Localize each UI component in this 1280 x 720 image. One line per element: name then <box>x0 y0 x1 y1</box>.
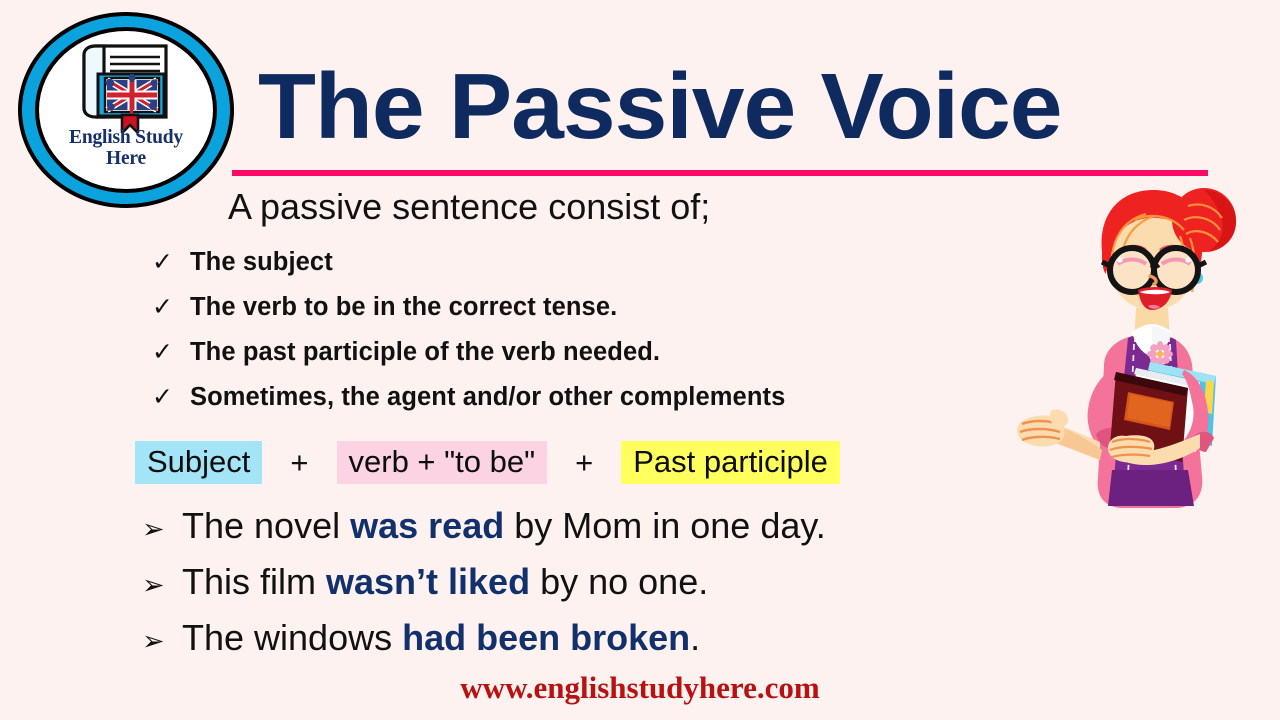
list-item: ➢ The novel was read by Mom in one day. <box>142 505 1102 561</box>
page-title: The Passive Voice <box>258 60 1061 153</box>
teacher-with-books-illustration <box>1008 176 1280 520</box>
formula-chip-subject: Subject <box>135 441 262 484</box>
example-passive-verb: had been broken <box>402 617 690 658</box>
checkmark-icon: ✓ <box>152 384 190 409</box>
passive-formula-row: Subject + verb + "to be" + Past particip… <box>135 440 840 485</box>
intro-line: A passive sentence consist of; <box>228 186 710 228</box>
example-passive-verb: wasn’t liked <box>326 561 530 602</box>
arrow-bullet-icon: ➢ <box>142 572 182 599</box>
footer-website-url: www.englishstudyhere.com <box>0 670 1280 706</box>
example-before: This film <box>182 561 326 602</box>
checkmark-icon: ✓ <box>152 339 190 364</box>
arrow-bullet-icon: ➢ <box>142 516 182 543</box>
list-item: ✓ The verb to be in the correct tense. <box>152 293 1012 338</box>
requirements-checklist: ✓ The subject ✓ The verb to be in the co… <box>152 248 1012 428</box>
logo-badge: English Study Here <box>18 12 234 208</box>
formula-chip-past-participle: Past participle <box>621 441 840 484</box>
list-item-label: The verb to be in the correct tense. <box>190 293 617 322</box>
logo-brand-text: English Study Here <box>35 127 217 169</box>
arrow-bullet-icon: ➢ <box>142 628 182 655</box>
list-item: ✓ Sometimes, the agent and/or other comp… <box>152 383 1012 428</box>
logo-brand-line2: Here <box>35 148 217 169</box>
example-sentence: This film wasn’t liked by no one. <box>182 561 708 603</box>
example-after: . <box>690 617 700 658</box>
logo-brand-line1: English Study <box>69 127 183 148</box>
example-after: by Mom in one day. <box>504 505 826 546</box>
infographic-canvas: English Study Here The Passive Voice A p… <box>0 0 1280 720</box>
list-item-label: The subject <box>190 248 333 277</box>
formula-chip-verb-to-be: verb + "to be" <box>337 441 548 484</box>
list-item-label: The past participle of the verb needed. <box>190 338 660 367</box>
formula-operator: + <box>547 447 621 478</box>
list-item: ➢ The windows had been broken. <box>142 617 1102 673</box>
example-after: by no one. <box>530 561 708 602</box>
example-before: The novel <box>182 505 350 546</box>
formula-operator: + <box>262 447 336 478</box>
book-uk-flag-icon <box>74 41 178 133</box>
example-before: The windows <box>182 617 402 658</box>
list-item: ✓ The subject <box>152 248 1012 293</box>
example-sentences: ➢ The novel was read by Mom in one day. … <box>142 505 1102 673</box>
list-item: ➢ This film wasn’t liked by no one. <box>142 561 1102 617</box>
list-item-label: Sometimes, the agent and/or other comple… <box>190 383 785 412</box>
checkmark-icon: ✓ <box>152 294 190 319</box>
example-passive-verb: was read <box>350 505 504 546</box>
example-sentence: The novel was read by Mom in one day. <box>182 505 826 547</box>
example-sentence: The windows had been broken. <box>182 617 700 659</box>
checkmark-icon: ✓ <box>152 249 190 274</box>
logo-content-clip: English Study Here <box>35 27 217 193</box>
list-item: ✓ The past participle of the verb needed… <box>152 338 1012 383</box>
